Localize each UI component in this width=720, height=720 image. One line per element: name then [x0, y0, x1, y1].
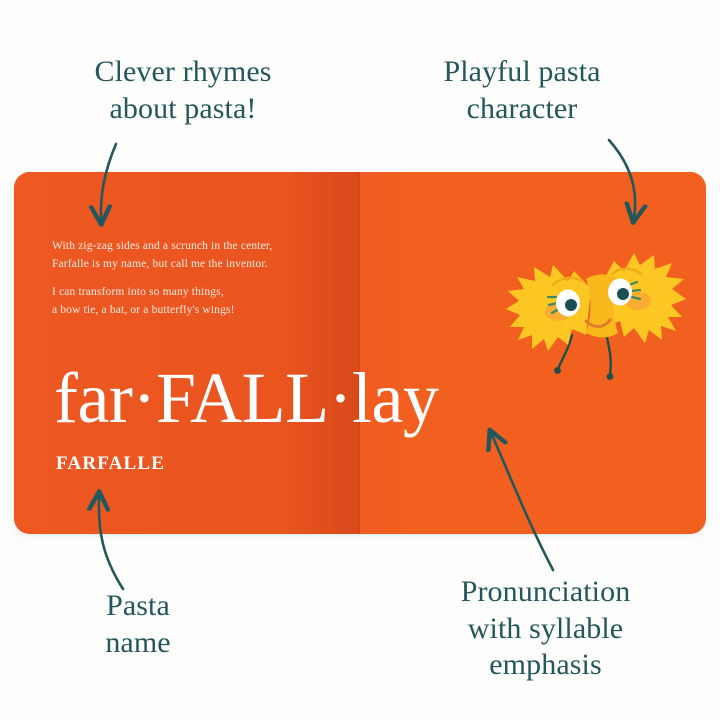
book-page-left — [14, 172, 360, 534]
illustration-stage: Clever rhymes about pasta! Playful pasta… — [0, 0, 720, 720]
callout-clever-rhymes: Clever rhymes about pasta! — [28, 54, 338, 127]
poem-stanza-one: With zig-zag sides and a scrunch in the … — [52, 238, 272, 274]
farfalle-character-illustration — [506, 227, 686, 392]
callout-pronunciation-with-syllable-emphasis: Pronunciation with syllable emphasis — [408, 574, 683, 684]
character-pupil-left — [565, 299, 577, 311]
character-foot-right — [607, 373, 614, 380]
character-pupil-right — [617, 288, 629, 300]
poem-stanza-two: I can transform into so many things, a b… — [52, 284, 235, 320]
book-gutter-fold — [359, 172, 362, 534]
open-book: With zig-zag sides and a scrunch in the … — [14, 172, 706, 534]
character-foot-left — [554, 367, 561, 374]
pronunciation-text: far·FALL·lay — [54, 362, 438, 434]
callout-pasta-name: Pasta name — [48, 588, 228, 661]
callout-playful-pasta-character: Playful pasta character — [382, 54, 662, 127]
pasta-name-text: FARFALLE — [56, 453, 165, 475]
